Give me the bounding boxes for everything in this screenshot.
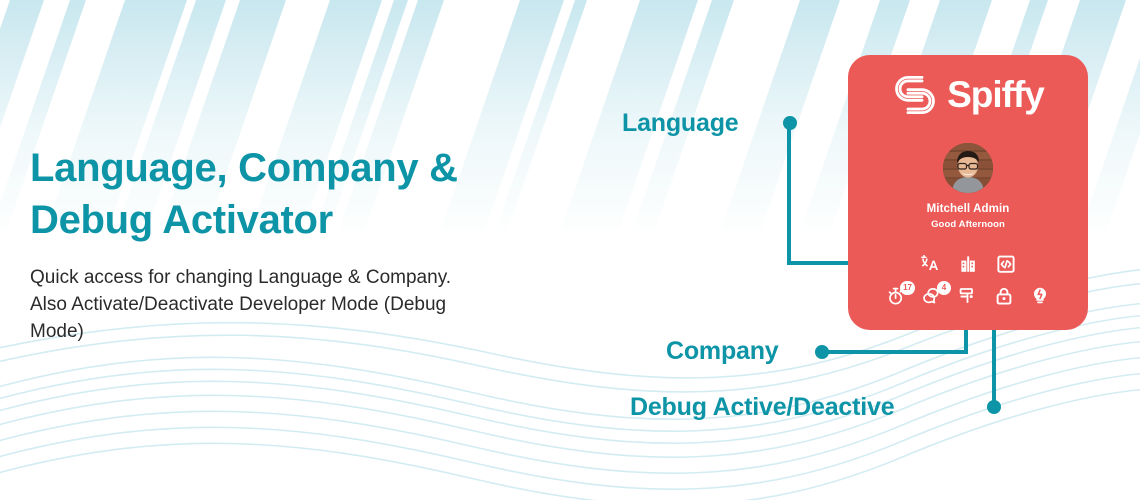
secondary-action-row: 17 4: [848, 286, 1088, 306]
lock-icon[interactable]: [994, 286, 1014, 306]
user-greeting: Good Afternoon: [848, 219, 1088, 230]
page-title: Language, Company & Debug Activator: [30, 142, 550, 246]
page-subtitle: Quick access for changing Language & Com…: [30, 264, 490, 345]
code-brackets-icon[interactable]: [996, 254, 1016, 274]
signpost-icon[interactable]: [958, 286, 978, 306]
connector-dot-company: [815, 345, 829, 359]
badge-count: 4: [937, 281, 951, 295]
user-avatar-photo-icon: [943, 143, 993, 193]
user-name: Mitchell Admin: [848, 203, 1088, 215]
brand-name: Spiffy: [947, 74, 1044, 116]
translate-icon[interactable]: [920, 254, 940, 274]
connector-line-language-vertical: [787, 123, 791, 265]
building-icon[interactable]: [958, 254, 978, 274]
chat-bubbles-icon[interactable]: 4: [922, 286, 942, 306]
callout-label-debug: Debug Active/Deactive: [630, 393, 894, 422]
stopwatch-icon[interactable]: 17: [886, 286, 906, 306]
callout-label-language: Language: [622, 109, 738, 138]
lightbulb-icon[interactable]: [1030, 286, 1050, 306]
promo-banner: Language, Company & Debug Activator Quic…: [0, 0, 1140, 500]
badge-count: 17: [900, 281, 915, 295]
connector-dot-language: [783, 116, 797, 130]
avatar[interactable]: [943, 143, 993, 193]
callout-label-company: Company: [666, 337, 779, 366]
spiffy-s-loop-logo-icon: [892, 73, 938, 117]
spiffy-user-menu-card: Spiffy Mitchell Admin Good Afternoon: [848, 55, 1088, 330]
connector-line-company-horizontal: [826, 350, 968, 354]
connector-dot-debug: [987, 400, 1001, 414]
primary-action-row: [848, 254, 1088, 274]
brand-logo: Spiffy: [848, 73, 1088, 117]
